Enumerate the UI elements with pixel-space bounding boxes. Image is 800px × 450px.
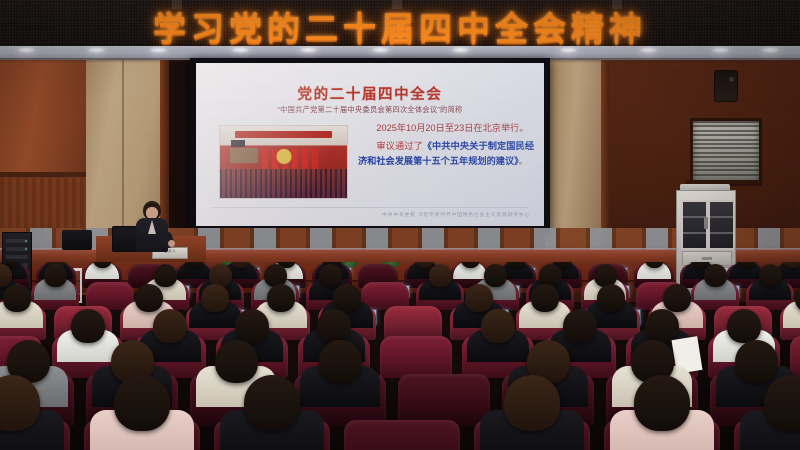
attendee-head [735,340,778,383]
audience-area [0,262,800,450]
attendee-head [539,264,562,287]
blind-slat [693,165,759,167]
blind-slat [693,134,759,136]
blind-slat [693,156,759,158]
left-wall-ledge [0,172,86,177]
attendee-head [759,264,782,287]
blind-slat [693,152,759,154]
cabinet-door-right[interactable] [708,200,735,250]
audience-seat [380,336,452,378]
slide-paragraph-1: 2025年10月20日至23日在北京举行。 [358,121,534,136]
attendee-head [465,284,493,312]
cabinet-handle[interactable] [704,217,708,229]
attendee-head [645,309,679,343]
attendee-head [209,264,232,287]
attendee-head [44,264,67,287]
attendee-head [481,309,515,343]
blind-slat [693,130,759,132]
desk-monitor-secondary [62,230,92,250]
slide-embedded-photo [219,125,348,199]
downlight-3 [150,47,167,53]
photo-party-emblem [275,148,292,165]
slide-p2-lead: 审议通过了 [376,141,422,151]
blind-slat [693,121,759,123]
attendee-head [264,264,287,287]
audience-seat [344,420,460,450]
attendee-head [634,375,690,431]
downlight-2 [88,47,105,53]
slide-paragraph-2: 审议通过了《中共中央关于制定国民经济和社会发展第十五个五年规划的建议》。 [358,139,534,169]
slide-p2-tail: 。 [519,156,528,166]
photo-delegate-seats [220,169,347,198]
photo-podium [230,148,258,164]
audience-seat [398,374,490,426]
downlight-11 [762,47,779,53]
photo-monitor [231,140,245,146]
downlight-8 [560,47,577,53]
attendee-head [244,375,300,431]
attendee-head [3,284,31,312]
blind-slat [693,139,759,141]
speaker-hand [168,240,175,247]
attendee-head [235,309,269,343]
slide-title: 党的二十届四中全会 [196,83,544,104]
slide-footer: 中共中央党校 习近平新时代中国特色社会主义思想研究中心 [382,212,530,218]
blind-slat [693,143,759,145]
blind-slat [693,125,759,127]
downlight-10 [712,47,729,53]
attendee-head [429,264,452,287]
attendee-head [504,375,560,431]
downlight-1 [18,47,35,53]
downlight-4 [232,47,249,53]
attendee-head [71,309,105,343]
downlight-6 [372,47,389,53]
slide-body-text: 2025年10月20日至23日在北京举行。 审议通过了《中共中央关于制定国民经济… [358,121,534,169]
attendee-head [153,309,187,343]
attendee-head [727,309,761,343]
attendee-head [333,284,361,312]
slide-subtitle: “中国共产党第二十届中央委员会第四次全体会议”的简称 [202,105,538,115]
led-banner-text: 学习党的二十届四中全会精神 [0,2,800,46]
attendee-head [215,340,258,383]
attendee-head [531,284,559,312]
attendee-head [597,284,625,312]
attendee-head [267,284,295,312]
downlight-7 [452,47,469,53]
projection-screen: 党的二十届四中全会 “中国共产党第二十届中央委员会第四次全体会议”的简称 202… [196,63,544,226]
blind-slat [693,174,759,176]
attendee-head [154,264,177,287]
blind-slat [693,147,759,149]
photo-red-banner [235,131,332,137]
attendee-head [114,375,170,431]
attendee-head [319,340,362,383]
downlight-9 [640,47,657,53]
attendee-head [563,309,597,343]
attendee-head [704,264,727,287]
blind-slat [693,161,759,163]
attendee-head [319,264,342,287]
window-with-blinds [690,118,762,186]
attendee-head [663,284,691,312]
attendee-head [594,264,617,287]
blind-slat [693,169,759,171]
attendee-head [484,264,507,287]
lecture-hall-photo: 学习党的二十届四中全会精神 党的二十届四中全会 “中国共产党第二十届中央委员会第… [0,0,800,450]
attendee-head [201,284,229,312]
slide-divider [212,207,528,208]
led-banner: 学习党的二十届四中全会精神 [0,0,800,46]
wall-speaker-icon [714,70,738,102]
audience-seat [384,306,442,340]
attendee-head [317,309,351,343]
attendee-head [135,284,163,312]
downlight-5 [300,47,317,53]
